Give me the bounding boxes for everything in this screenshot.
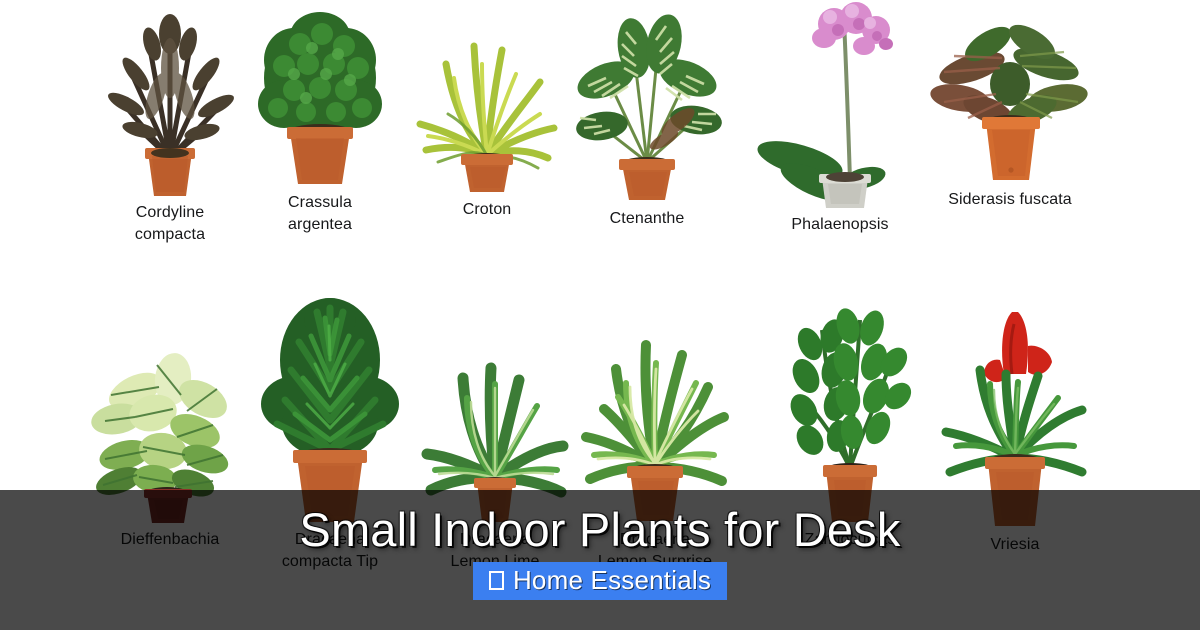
plant-label: Cordyline compacta	[135, 202, 205, 245]
plant-tile-ctenanthe: Ctenanthe	[572, 14, 722, 230]
dracaena-compacta-tip-image	[255, 300, 405, 525]
plant-label: Siderasis fuscata	[948, 189, 1072, 211]
site-badge[interactable]: Home Essentials	[473, 562, 727, 600]
page-title: Small Indoor Plants for Desk	[299, 505, 900, 554]
dracaena-lemon-lime-image	[425, 350, 565, 525]
dracaena-lemon-surprise-image	[580, 325, 730, 525]
plant-label: Croton	[463, 199, 512, 221]
zamioculcas-image	[780, 300, 920, 525]
site-badge-label: Home Essentials	[513, 567, 711, 593]
ctenanthe-image	[572, 14, 722, 204]
plant-label: Phalaenopsis	[791, 214, 888, 236]
cordyline-compacta-image	[100, 8, 240, 198]
siderasis-fuscata-image	[930, 10, 1090, 185]
plant-label: Crassula argentea	[288, 192, 352, 235]
plant-tile-crassula-argentea: Crassula argentea	[250, 8, 390, 235]
plant-tile-cordyline-compacta: Cordyline compacta	[100, 8, 240, 245]
phalaenopsis-image	[760, 0, 920, 210]
plant-label: Ctenanthe	[610, 208, 685, 230]
croton-image	[412, 20, 562, 195]
plant-tile-phalaenopsis: Phalaenopsis	[760, 0, 920, 236]
missing-glyph-box-icon	[489, 571, 504, 590]
vriesia-image	[940, 300, 1090, 530]
headline-group: Small Indoor Plants for Desk Home Essent…	[0, 505, 1200, 600]
crassula-argentea-image	[250, 8, 390, 188]
plant-tile-croton: Croton	[412, 20, 562, 221]
dieffenbachia-image	[95, 355, 245, 525]
social-share-card: Cordyline compacta	[0, 0, 1200, 630]
plant-tile-siderasis-fuscata: Siderasis fuscata	[930, 10, 1090, 211]
